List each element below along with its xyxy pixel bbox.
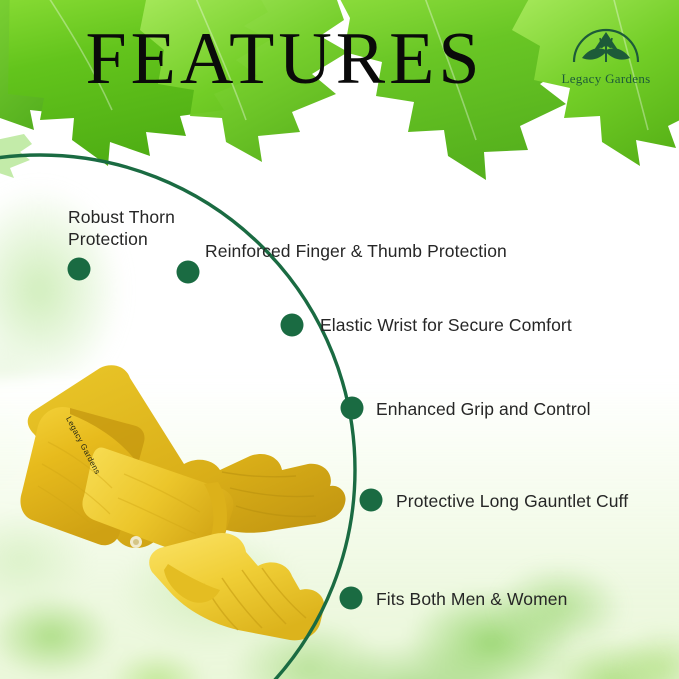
feature-dot-4[interactable] <box>341 397 364 420</box>
feature-dot-2[interactable] <box>177 261 200 284</box>
feature-label-reinforced-finger-thumb: Reinforced Finger & Thumb Protection <box>205 240 507 262</box>
feature-label-elastic-wrist: Elastic Wrist for Secure Comfort <box>320 314 572 336</box>
feature-dot-5[interactable] <box>360 489 383 512</box>
feature-dot-3[interactable] <box>281 314 304 337</box>
feature-label-enhanced-grip: Enhanced Grip and Control <box>376 398 591 420</box>
features-infographic: FEATURES Legacy Gardens <box>0 0 679 679</box>
feature-circle-arc <box>0 0 679 679</box>
feature-dot-6[interactable] <box>340 587 363 610</box>
feature-label-robust-thorn-protection: Robust Thorn Protection <box>68 206 175 251</box>
feature-label-protective-long-gauntlet-cuff: Protective Long Gauntlet Cuff <box>396 490 628 512</box>
feature-dot-1[interactable] <box>68 258 91 281</box>
feature-label-fits-both-men-women: Fits Both Men & Women <box>376 588 567 610</box>
feature-dots <box>68 258 383 610</box>
